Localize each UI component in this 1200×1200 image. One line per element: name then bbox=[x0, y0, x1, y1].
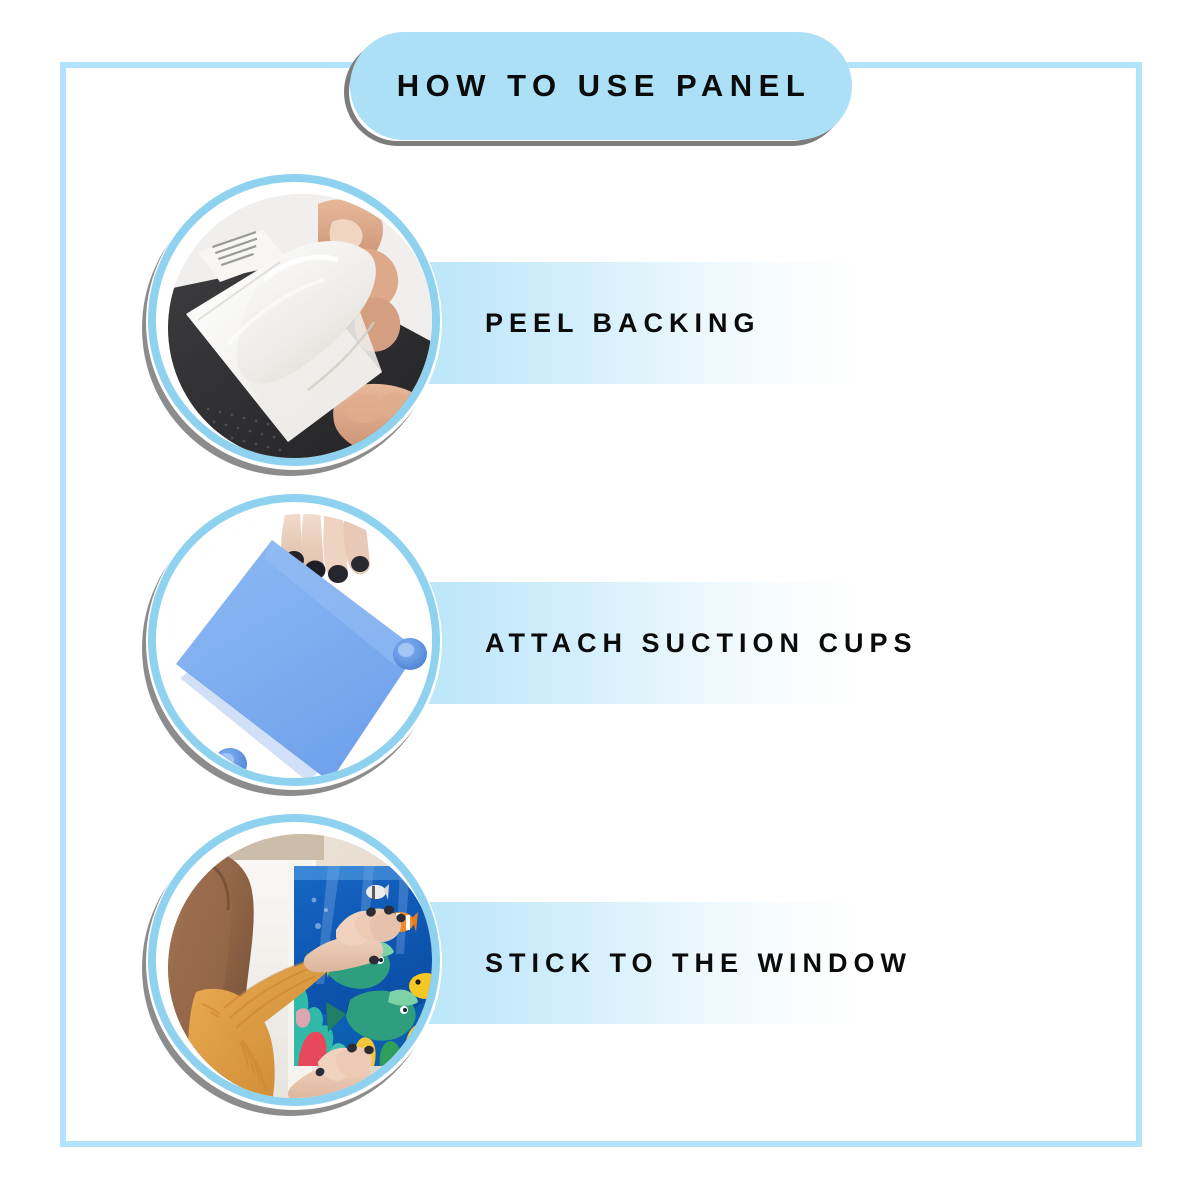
page-title: HOW TO USE PANEL bbox=[391, 68, 812, 104]
step-label-text: PEEL BACKING bbox=[485, 262, 1045, 384]
step-row-stick-to-the-window: STICK TO THE WINDOW bbox=[0, 812, 1200, 1112]
circle-blue-ring bbox=[148, 494, 440, 786]
attach-suction-cups-photo bbox=[168, 514, 436, 782]
peel-backing-illustration bbox=[168, 194, 436, 462]
suction-cup-right bbox=[393, 638, 427, 670]
circle-blue-ring bbox=[148, 814, 440, 1106]
stick-to-window-illustration bbox=[168, 834, 436, 1102]
header-banner-pill: HOW TO USE PANEL bbox=[350, 32, 852, 140]
circle-blue-ring bbox=[148, 174, 440, 466]
header-banner: HOW TO USE PANEL bbox=[350, 32, 852, 140]
step-thumbnail-attach-suction-cups bbox=[146, 494, 442, 790]
step-thumbnail-peel-backing bbox=[146, 174, 442, 470]
peel-backing-photo bbox=[168, 194, 436, 462]
step-thumbnail-stick-to-the-window bbox=[146, 814, 442, 1110]
step-label-text: ATTACH SUCTION CUPS bbox=[485, 582, 1045, 704]
step-label-text: STICK TO THE WINDOW bbox=[485, 902, 1045, 1024]
step-row-attach-suction-cups: ATTACH SUCTION CUPS bbox=[0, 492, 1200, 792]
attach-suction-cups-illustration bbox=[168, 514, 436, 782]
how-to-use-panel-infographic: HOW TO USE PANEL PEEL BACKING bbox=[0, 0, 1200, 1200]
step-row-peel-backing: PEEL BACKING bbox=[0, 172, 1200, 472]
stick-to-the-window-photo bbox=[168, 834, 436, 1102]
